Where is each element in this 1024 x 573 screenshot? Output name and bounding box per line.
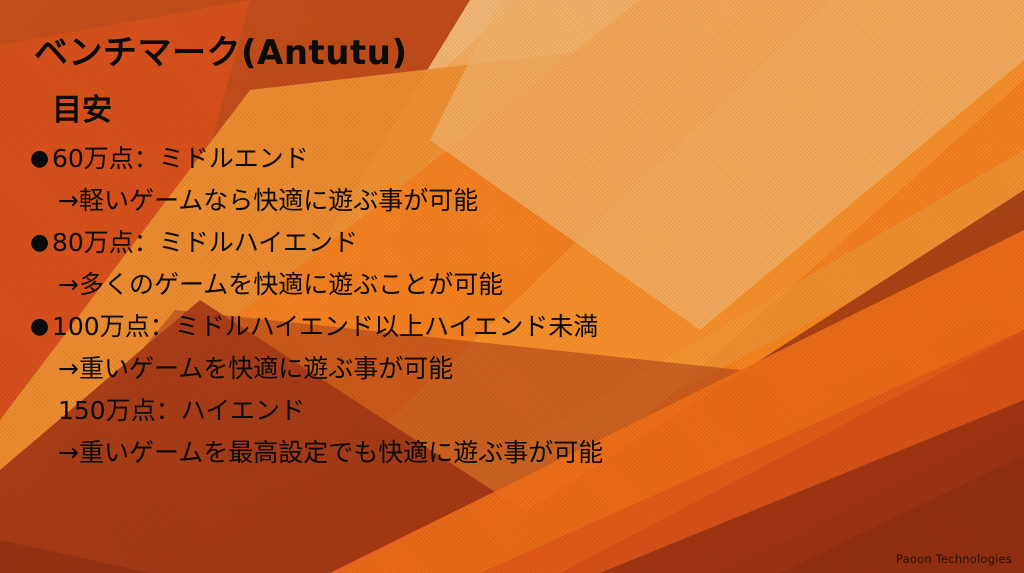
list-item-text: 100万点：ミドルハイエンド以上ハイエンド未満 (52, 306, 598, 348)
list-item: 150万点：ハイエンド (30, 390, 990, 432)
list-item-text: →軽いゲームなら快適に遊ぶ事が可能 (58, 180, 478, 222)
presentation-slide: ベンチマーク(Antutu) 目安 ● 60万点：ミドルエンド →軽いゲームなら… (0, 0, 1024, 573)
list-item: →重いゲームを最高設定でも快適に遊ぶ事が可能 (30, 432, 990, 474)
list-item: →多くのゲームを快適に遊ぶことが可能 (30, 264, 990, 306)
list-item-text: 60万点：ミドルエンド (52, 138, 309, 180)
slide-content: ベンチマーク(Antutu) 目安 ● 60万点：ミドルエンド →軽いゲームなら… (0, 0, 1024, 573)
slide-footer-credit: Paoon Technologies (896, 552, 1012, 566)
list-item: →重いゲームを快適に遊ぶ事が可能 (30, 348, 990, 390)
bullet-marker: ● (30, 138, 52, 180)
bullet-marker: ● (30, 222, 52, 264)
benchmark-guideline-list: ● 60万点：ミドルエンド →軽いゲームなら快適に遊ぶ事が可能 ● 80万点：ミ… (30, 138, 990, 474)
list-item-text: 80万点：ミドルハイエンド (52, 222, 358, 264)
page-title: ベンチマーク(Antutu) (34, 36, 408, 70)
list-item: ● 80万点：ミドルハイエンド (30, 222, 990, 264)
list-item-text: →重いゲームを快適に遊ぶ事が可能 (58, 348, 453, 390)
list-item-text: →重いゲームを最高設定でも快適に遊ぶ事が可能 (58, 432, 603, 474)
list-item-text: →多くのゲームを快適に遊ぶことが可能 (58, 264, 503, 306)
list-item: ● 100万点：ミドルハイエンド以上ハイエンド未満 (30, 306, 990, 348)
list-item-text: 150万点：ハイエンド (58, 390, 305, 432)
bullet-marker: ● (30, 306, 52, 348)
list-item: ● 60万点：ミドルエンド (30, 138, 990, 180)
list-item: →軽いゲームなら快適に遊ぶ事が可能 (30, 180, 990, 222)
slide-subtitle: 目安 (52, 96, 112, 126)
